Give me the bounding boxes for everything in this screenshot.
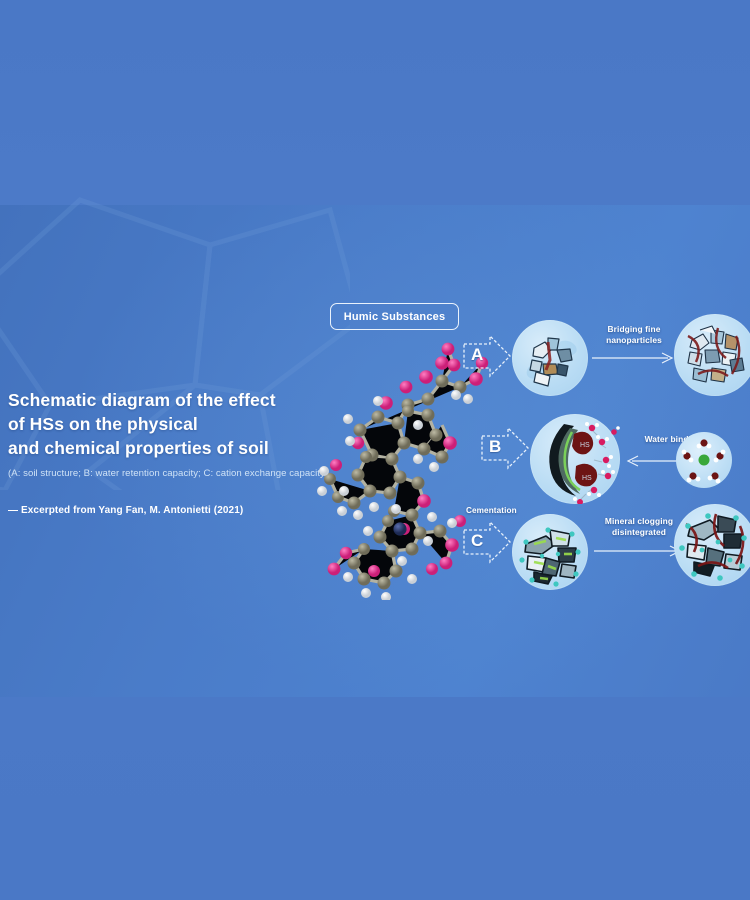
- figure-title-line-2: of HSs on the physical: [8, 412, 348, 436]
- panel-a-letter: A: [471, 345, 483, 365]
- panel-a-arrow-marker: A: [462, 334, 512, 378]
- panel-c-process-label-line1: Mineral clogging: [592, 516, 686, 527]
- svg-text:HS: HS: [580, 442, 590, 449]
- background-band-bottom: [0, 697, 750, 900]
- soil-aggregate-bridged-icon: [674, 314, 750, 396]
- panel-a-process-label-line1: Bridging fine: [595, 324, 673, 335]
- panel-a-process-label-line2: nanoparticles: [595, 335, 673, 346]
- figure-subtitle: (A: soil structure; B: water retention c…: [8, 467, 348, 480]
- figure-title: Schematic diagram of the effect of HSs o…: [8, 388, 348, 460]
- panel-c-flow-arrow-icon: [594, 544, 684, 558]
- hydrated-ion-cluster-icon: [676, 432, 732, 488]
- soil-aggregate-loose-icon: [512, 320, 588, 396]
- figure-title-line-1: Schematic diagram of the effect: [8, 388, 348, 412]
- figure-canvas: Schematic diagram of the effect of HSs o…: [0, 0, 750, 900]
- humic-sheet-water-icon: HS HS: [530, 414, 620, 504]
- panel-row-c: Cementation C: [462, 506, 750, 598]
- panel-b-arrow-marker: B: [480, 426, 530, 470]
- panel-b-letter: B: [489, 437, 501, 457]
- panel-c-process-label: Mineral clogging disintegrated: [592, 516, 686, 537]
- svg-text:HS: HS: [582, 475, 592, 482]
- humic-substances-label-text: Humic Substances: [344, 311, 446, 323]
- figure-title-line-3: and chemical properties of soil: [8, 436, 348, 460]
- panel-c-pre-label: Cementation: [466, 506, 517, 515]
- figure-credit: — Excerpted from Yang Fan, M. Antonietti…: [8, 505, 348, 516]
- panel-a-flow-arrow-icon: [592, 351, 676, 365]
- panel-a-process-label: Bridging fine nanoparticles: [595, 324, 673, 345]
- panel-row-a: A Bridging fin: [462, 318, 750, 404]
- cemented-mineral-icon: [512, 514, 588, 590]
- background-band-top: [0, 0, 750, 205]
- panel-c-letter: C: [471, 531, 483, 551]
- figure-caption-block: Schematic diagram of the effect of HSs o…: [8, 388, 348, 516]
- panel-c-arrow-marker: C: [462, 520, 512, 564]
- panel-row-b: B HS HS: [462, 414, 750, 510]
- panel-c-process-label-line2: disintegrated: [592, 527, 686, 538]
- disintegrated-mineral-icon: [674, 504, 750, 586]
